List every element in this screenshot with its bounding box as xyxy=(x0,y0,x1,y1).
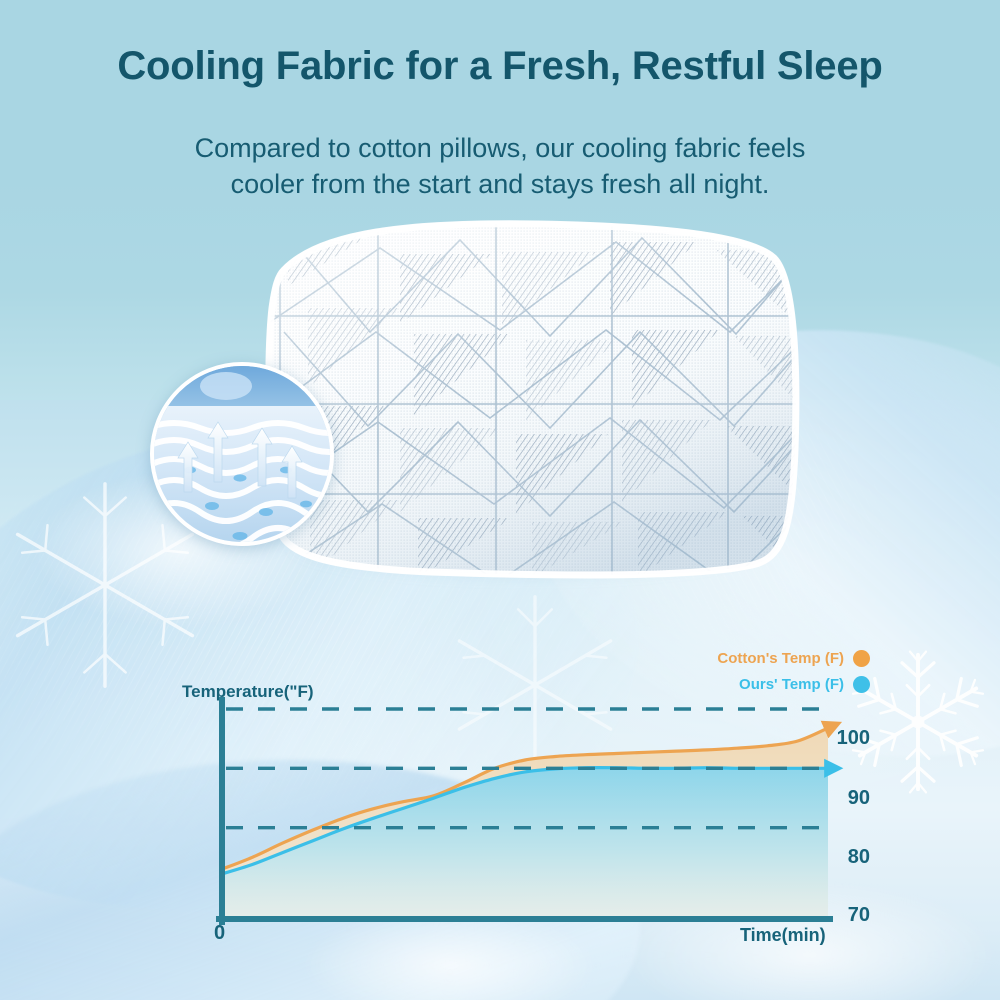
temperature-chart: Temperature("F) 100 90 80 70 0 Time(min)… xyxy=(170,640,870,960)
fabric-closeup-inset xyxy=(150,362,334,546)
subtitle-line-2: cooler from the start and stays fresh al… xyxy=(0,167,1000,203)
page-subtitle: Compared to cotton pillows, our cooling … xyxy=(0,131,1000,203)
infographic-canvas: Cooling Fabric for a Fresh, Restful Slee… xyxy=(0,0,1000,1000)
subtitle-line-1: Compared to cotton pillows, our cooling … xyxy=(0,131,1000,167)
chart-area-ours xyxy=(222,768,828,919)
page-title: Cooling Fabric for a Fresh, Restful Slee… xyxy=(0,44,1000,89)
pillow-image xyxy=(250,212,810,582)
chart-plot-area xyxy=(170,640,870,960)
